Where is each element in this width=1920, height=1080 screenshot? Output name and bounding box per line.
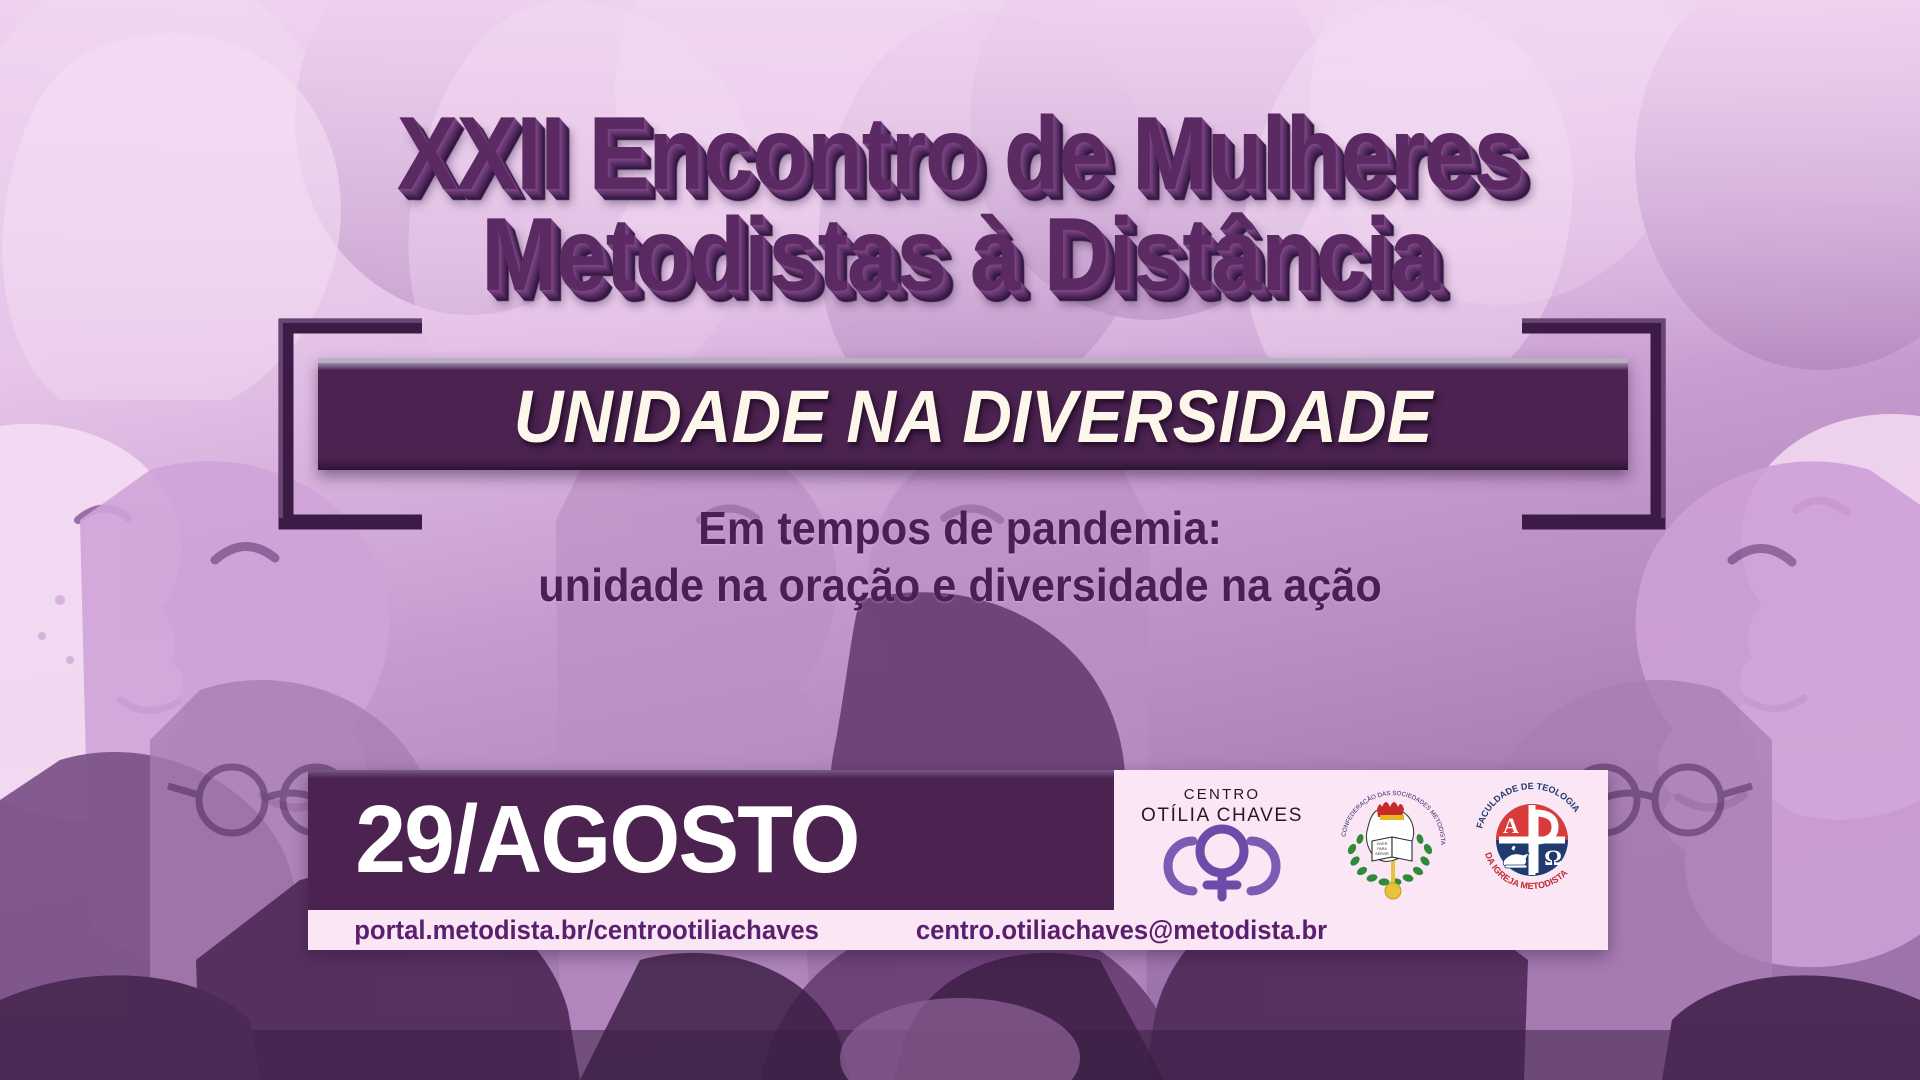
alpha-glyph: A	[1503, 813, 1519, 838]
footer-top-row: 29/AGOSTO CENTRO OTÍLIA CHAVES	[308, 770, 1608, 910]
website-link[interactable]: portal.metodista.br/centrootiliachaves	[354, 915, 819, 946]
logo-centro-otilia-chaves: CENTRO OTÍLIA CHAVES	[1127, 777, 1317, 903]
book-line-3: SERVIR	[1375, 852, 1389, 856]
subtitle-line-2: unidade na oração e diversidade na ação	[58, 557, 1863, 614]
subtitle-line-1: Em tempos de pandemia:	[58, 500, 1863, 557]
event-date-box: 29/AGOSTO	[308, 770, 1114, 910]
footer-contact-row: portal.metodista.br/centrootiliachaves c…	[308, 910, 1608, 950]
email-link[interactable]: centro.otiliachaves@metodista.br	[916, 915, 1327, 946]
book-line-2: PARA	[1377, 847, 1387, 851]
book-line-1: VIVER	[1377, 842, 1388, 846]
venus-symbol-trio	[1168, 829, 1276, 897]
theme-banner-text: UNIDADE NA DIVERSIDADE	[514, 374, 1433, 459]
page-title: XXII Encontro de Mulheres Metodistas à D…	[0, 104, 1920, 306]
title-line-1: XXII Encontro de Mulheres	[115, 104, 1805, 205]
logo1-line2: OTÍLIA CHAVES	[1141, 805, 1303, 826]
logo-faculdade-teologia: FACULDADE DE TEOLOGIA DA IGREJA METODIST…	[1469, 777, 1595, 903]
logo-confederacao-mulheres: CONFEDERAÇÃO DAS SOCIEDADES METODISTAS D…	[1330, 777, 1456, 903]
theme-banner: UNIDADE NA DIVERSIDADE	[318, 358, 1628, 470]
title-line-2: Metodistas à Distância	[115, 205, 1805, 306]
crown-icon	[1377, 802, 1404, 820]
poster-canvas: XXII Encontro de Mulheres Metodistas à D…	[0, 0, 1920, 1080]
logo1-line1: CENTRO	[1183, 786, 1260, 803]
logo-strip: CENTRO OTÍLIA CHAVES	[1114, 770, 1608, 910]
open-book-icon: VIVER PARA SERVIR	[1372, 837, 1412, 861]
subtitle-block: Em tempos de pandemia: unidade na oração…	[58, 500, 1863, 614]
footer-bar: 29/AGOSTO CENTRO OTÍLIA CHAVES	[308, 770, 1608, 950]
event-date: 29/AGOSTO	[355, 785, 858, 895]
omega-glyph: Ω	[1545, 845, 1563, 870]
